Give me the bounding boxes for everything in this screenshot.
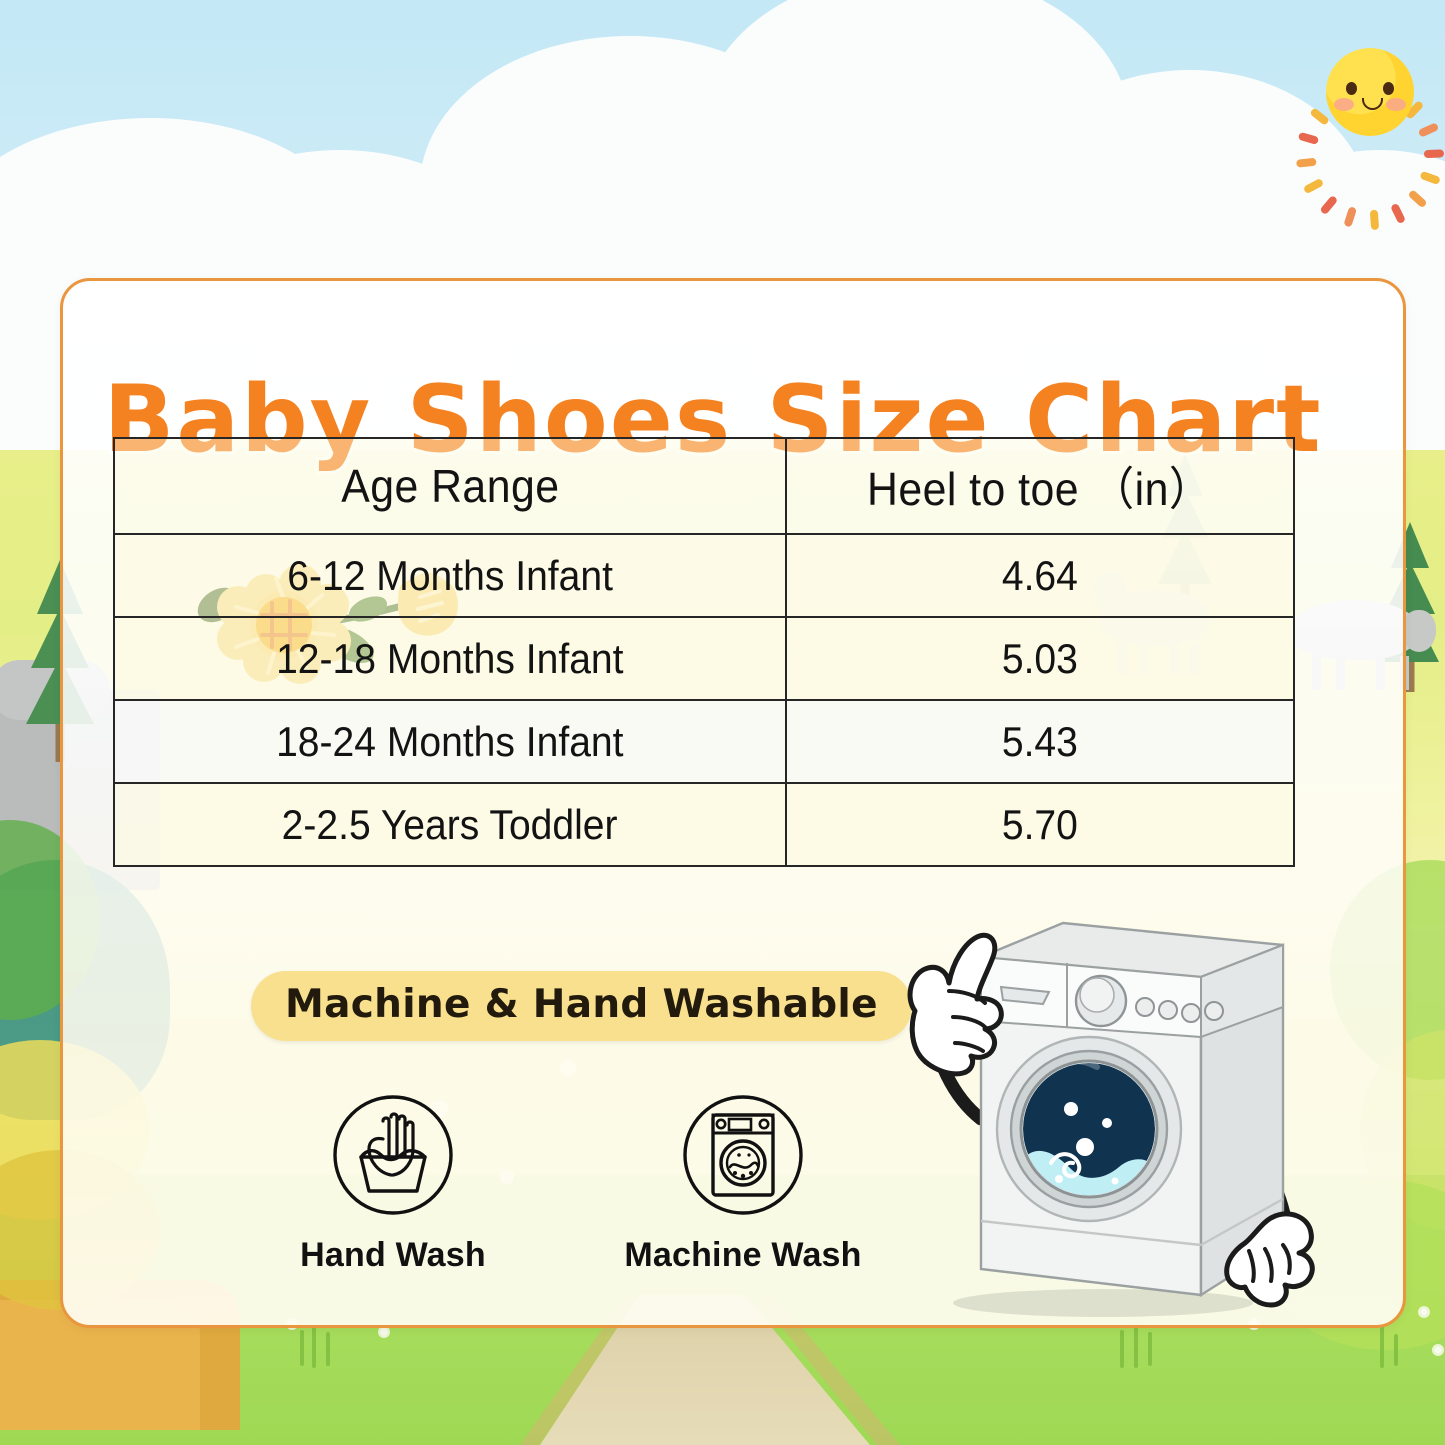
grass-blade (1148, 1332, 1152, 1366)
thumbs-up-hand (910, 935, 1001, 1074)
cell-age-range: 6-12 Months Infant (114, 534, 786, 617)
washing-machine-mascot-icon (853, 891, 1363, 1321)
table-row: 12-18 Months Infant 5.03 (114, 617, 1294, 700)
cell-heel-to-toe: 5.70 (786, 783, 1294, 866)
table-row: 18-24 Months Infant 5.43 (114, 700, 1294, 783)
grass-blade (1394, 1334, 1398, 1366)
grass-blade (300, 1330, 304, 1366)
care-item-hand-wash: Hand Wash (243, 1093, 543, 1275)
grass-blade (1134, 1322, 1138, 1368)
column-header-age-range: Age Range (114, 438, 786, 534)
table-header-row: Age Range Heel to toe （in） (114, 438, 1294, 534)
care-item-machine-wash: Machine Wash (593, 1093, 893, 1275)
cell-age-range: 12-18 Months Infant (114, 617, 786, 700)
sun-face (1326, 48, 1414, 136)
machine-wash-icon (681, 1093, 805, 1217)
grass-blade (312, 1324, 316, 1368)
meadow-flower-icon (1432, 1344, 1444, 1356)
table-row: 2-2.5 Years Toddler 5.70 (114, 783, 1294, 866)
size-chart-table: Age Range Heel to toe （in） 6-12 Months I… (113, 437, 1295, 867)
grass-blade (326, 1332, 330, 1366)
meadow-flower-icon (1418, 1306, 1430, 1318)
washable-badge-label: Machine & Hand Washable (285, 982, 878, 1027)
cell-age-range: 18-24 Months Infant (114, 700, 786, 783)
washable-badge: Machine & Hand Washable (251, 971, 912, 1041)
grass-blade (1120, 1330, 1124, 1368)
cell-heel-to-toe: 4.64 (786, 534, 1294, 617)
cell-age-range: 2-2.5 Years Toddler (114, 783, 786, 866)
column-header-heel-to-toe: Heel to toe （in） (786, 438, 1294, 534)
table-row: 6-12 Months Infant 4.64 (114, 534, 1294, 617)
care-item-label: Machine Wash (593, 1236, 893, 1275)
poster-canvas: Baby Shoes Size Chart Age Range Heel to … (0, 0, 1445, 1445)
size-chart-card: Baby Shoes Size Chart Age Range Heel to … (60, 278, 1406, 1328)
hand-wash-icon (331, 1093, 455, 1217)
cell-heel-to-toe: 5.43 (786, 700, 1294, 783)
care-item-label: Hand Wash (243, 1236, 543, 1275)
cell-heel-to-toe: 5.03 (786, 617, 1294, 700)
grass-blade (1380, 1326, 1384, 1368)
smiling-sun-icon (1296, 18, 1444, 166)
